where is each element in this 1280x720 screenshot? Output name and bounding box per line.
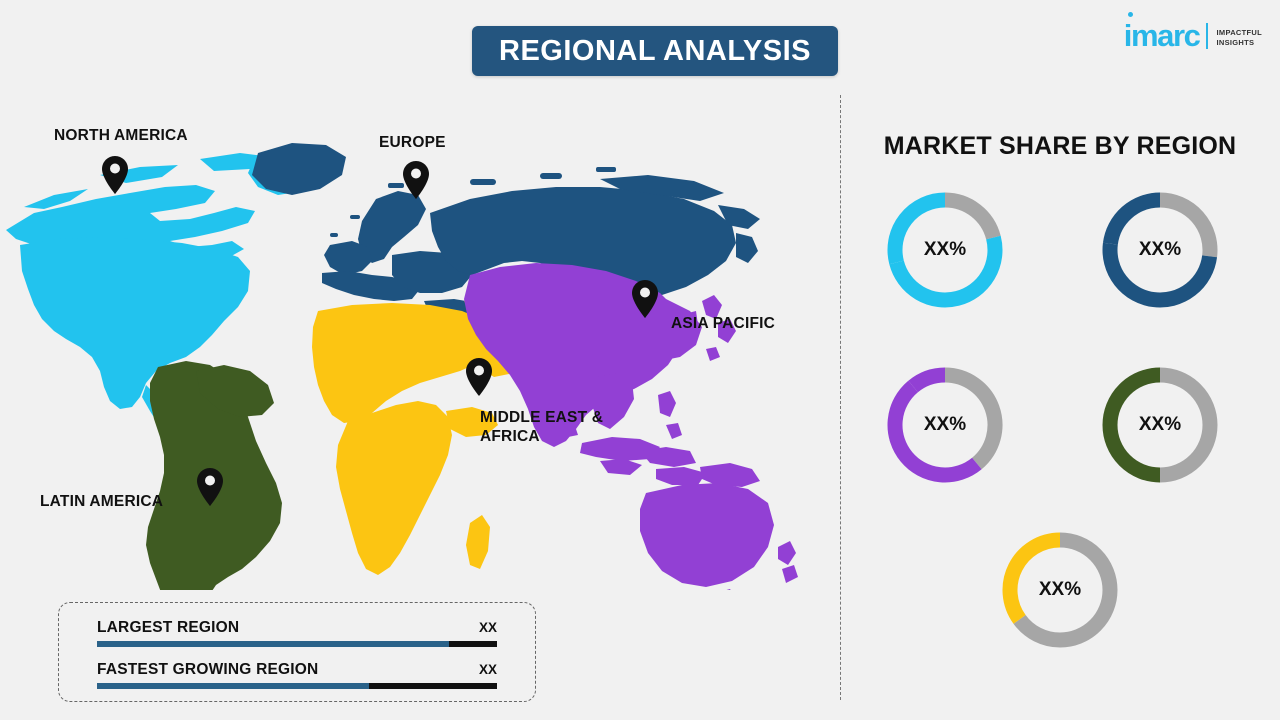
donut-chart-latin-america[interactable]: XX%: [1095, 360, 1225, 490]
legend-value-fastest-growing-region: XX: [479, 662, 497, 677]
logo-tagline: IMPACTFUL INSIGHTS: [1217, 28, 1262, 48]
logo-divider-bar: [1206, 23, 1208, 49]
donut-chart-europe[interactable]: XX%: [1095, 185, 1225, 315]
map-label-latin-america: LATIN AMERICA: [40, 492, 163, 511]
legend-row-largest-region: LARGEST REGION XX: [97, 619, 497, 647]
logo-dot-icon: [1128, 12, 1133, 17]
legend-value-largest-region: XX: [479, 620, 497, 635]
map-pin-middle-east-africa-icon[interactable]: [464, 357, 494, 397]
legend-row-fastest-growing-region: FASTEST GROWING REGION XX: [97, 661, 497, 689]
donut-chart-north-america[interactable]: XX%: [880, 185, 1010, 315]
imarc-logo: imarc IMPACTFUL INSIGHTS: [1124, 20, 1262, 51]
map-label-europe: EUROPE: [379, 133, 446, 152]
legend-bar-track-largest-region: [97, 641, 497, 647]
logo-tagline-line2: INSIGHTS: [1217, 38, 1255, 47]
map-pin-europe-icon[interactable]: [401, 160, 431, 200]
donut-value-latin-america: XX%: [1095, 360, 1225, 490]
regional-analysis-infographic: REGIONAL ANALYSIS imarc IMPACTFUL INSIGH…: [0, 0, 1280, 720]
vertical-divider: [840, 95, 841, 700]
map-label-asia-pacific: ASIA PACIFIC: [671, 314, 775, 333]
donut-value-asia-pacific: XX%: [880, 360, 1010, 490]
legend-bar-fill-largest-region: [97, 641, 449, 647]
map-pin-north-america-icon[interactable]: [100, 155, 130, 195]
donut-chart-asia-pacific[interactable]: XX%: [880, 360, 1010, 490]
page-title: REGIONAL ANALYSIS: [499, 35, 811, 68]
region-summary-legend: LARGEST REGION XX FASTEST GROWING REGION…: [58, 602, 536, 702]
map-pin-asia-pacific-icon[interactable]: [630, 279, 660, 319]
donut-value-europe: XX%: [1095, 185, 1225, 315]
page-title-banner: REGIONAL ANALYSIS: [472, 26, 838, 76]
legend-bar-fill-fastest-growing-region: [97, 683, 369, 689]
donut-value-middle-east-africa: XX%: [995, 525, 1125, 655]
map-label-middle-east-africa: MIDDLE EAST & AFRICA: [480, 408, 620, 447]
legend-bar-track-fastest-growing-region: [97, 683, 497, 689]
map-label-north-america: NORTH AMERICA: [54, 126, 188, 145]
legend-label-largest-region: LARGEST REGION: [97, 619, 239, 637]
legend-label-fastest-growing-region: FASTEST GROWING REGION: [97, 661, 318, 679]
donut-value-north-america: XX%: [880, 185, 1010, 315]
donut-chart-middle-east-africa[interactable]: XX%: [995, 525, 1125, 655]
market-share-title: MARKET SHARE BY REGION: [840, 132, 1280, 161]
map-pin-latin-america-icon[interactable]: [195, 467, 225, 507]
logo-wordmark: imarc: [1124, 20, 1200, 51]
logo-tagline-line1: IMPACTFUL: [1217, 28, 1262, 37]
